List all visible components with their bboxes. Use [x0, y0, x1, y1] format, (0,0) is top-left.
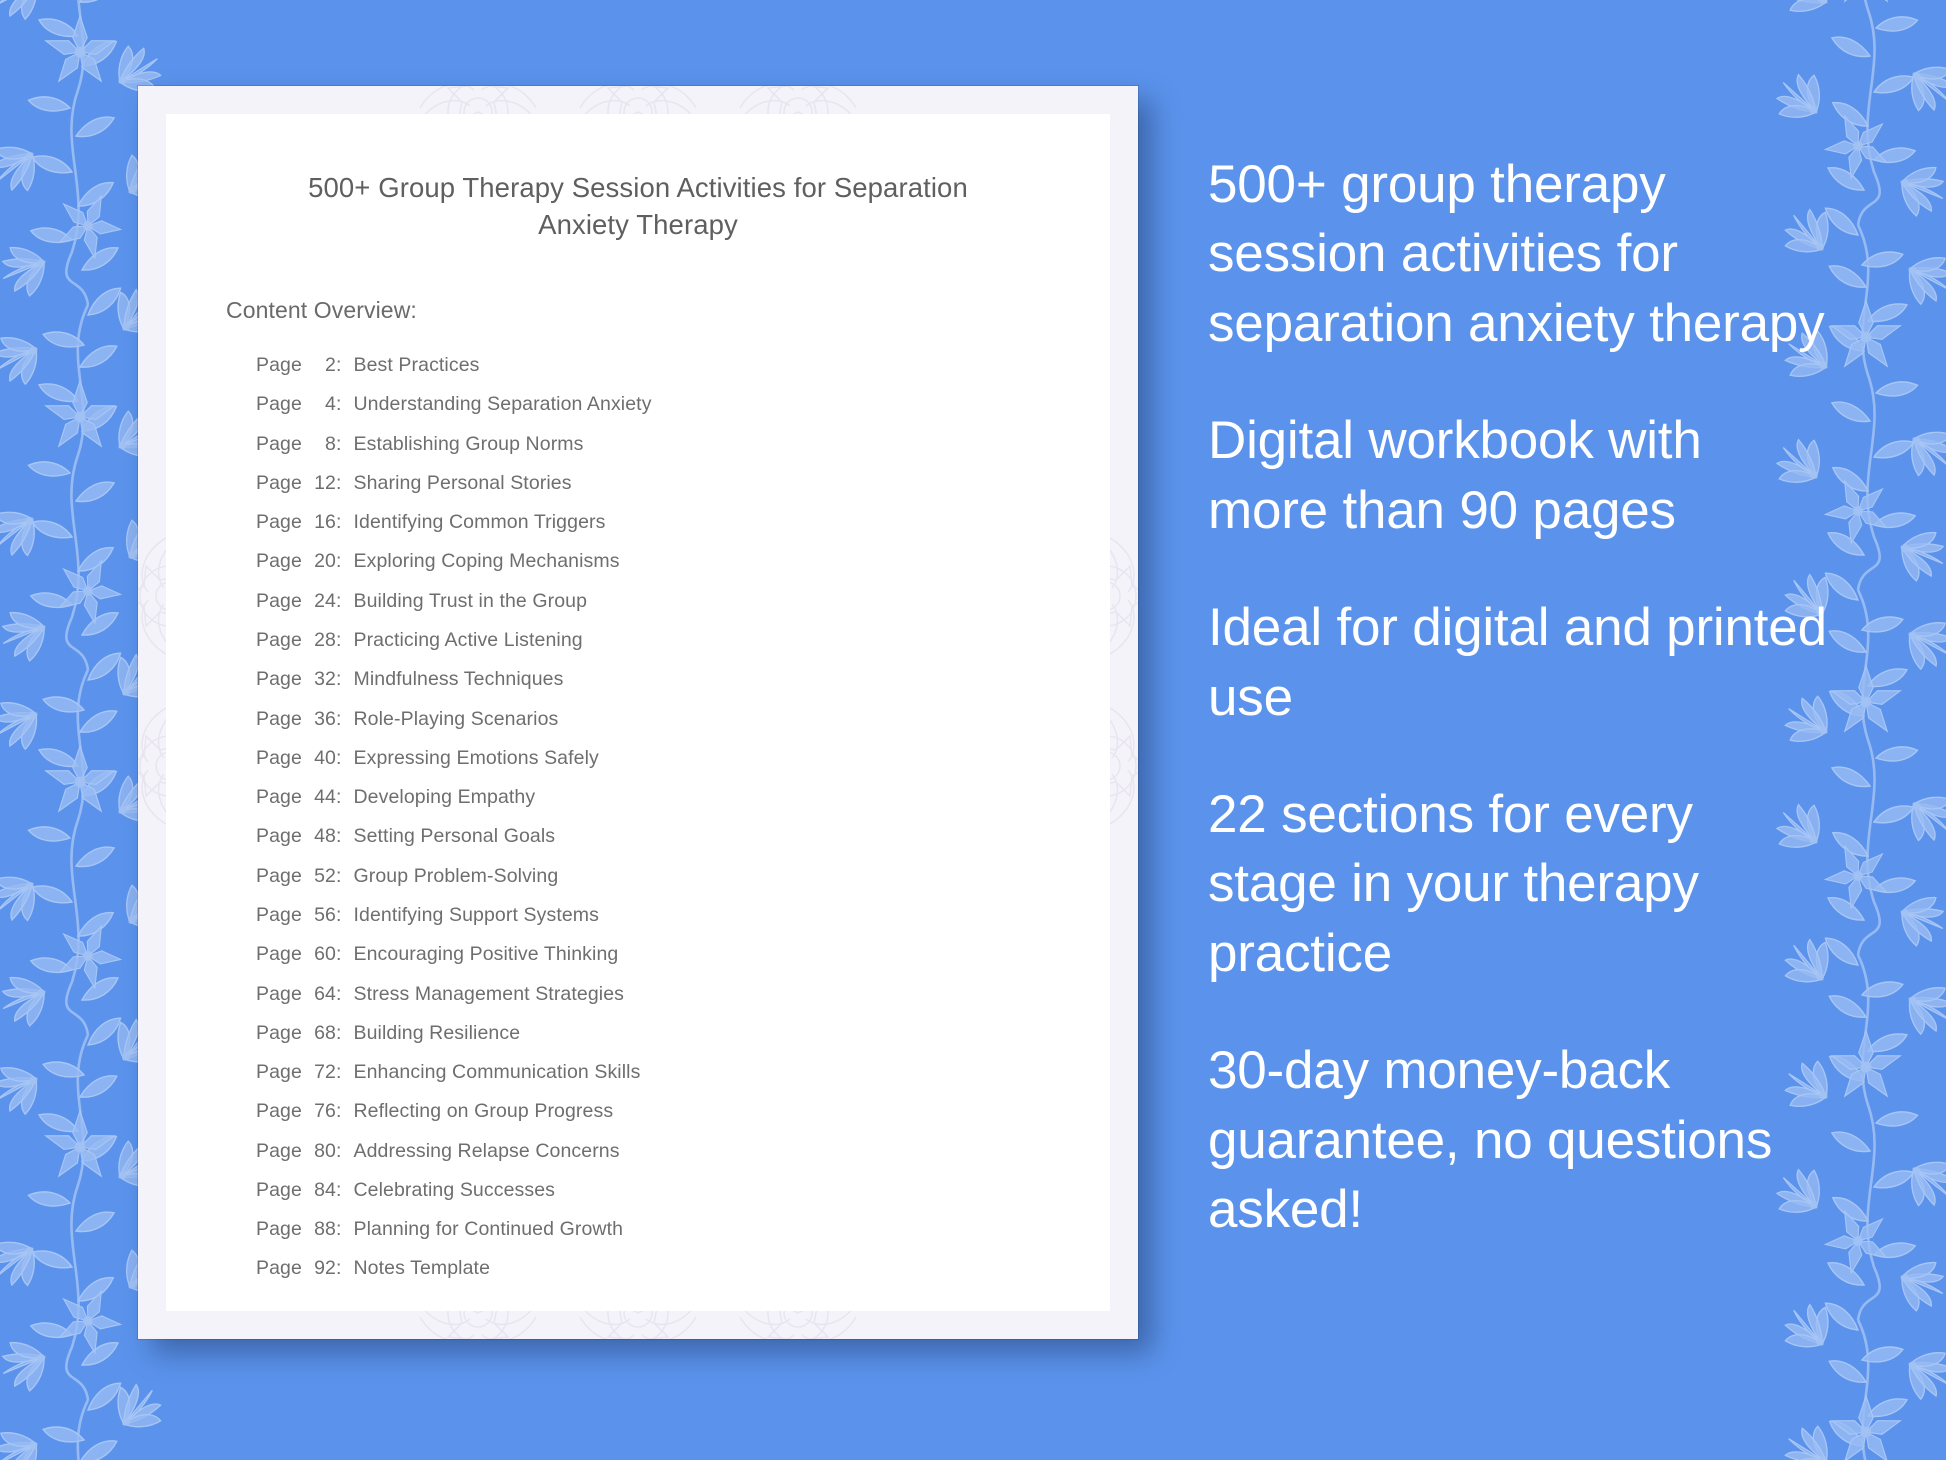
- toc-page-number: 88: [302, 1220, 336, 1240]
- toc-page-word: Page: [256, 670, 302, 690]
- document-page: 500+ Group Therapy Session Activities fo…: [166, 114, 1110, 1311]
- toc-entry-title: Building Trust in the Group: [353, 592, 587, 612]
- toc-entry[interactable]: Page24:Building Trust in the Group: [256, 582, 1110, 621]
- toc-colon: :: [336, 827, 342, 847]
- marketing-bullet: 22 sections for every stage in your ther…: [1208, 780, 1828, 988]
- toc-colon: :: [336, 395, 342, 415]
- toc-entry-title: Stress Management Strategies: [353, 985, 624, 1005]
- toc-entry-title: Role-Playing Scenarios: [353, 710, 558, 730]
- toc-entry[interactable]: Page76:Reflecting on Group Progress: [256, 1092, 1110, 1131]
- toc-entry-title: Identifying Support Systems: [353, 906, 599, 926]
- toc-entry-title: Celebrating Successes: [353, 1181, 555, 1201]
- toc-page-number: 24: [302, 592, 336, 612]
- toc-entry[interactable]: Page2:Best Practices: [256, 346, 1110, 385]
- toc-page-word: Page: [256, 906, 302, 926]
- table-of-contents: Page2:Best PracticesPage4:Understanding …: [256, 346, 1110, 1289]
- toc-page-word: Page: [256, 1259, 302, 1279]
- marketing-bullet: Digital workbook with more than 90 pages: [1208, 406, 1828, 545]
- toc-page-number: 2: [302, 356, 336, 376]
- toc-page-word: Page: [256, 474, 302, 494]
- toc-page-word: Page: [256, 945, 302, 965]
- toc-entry-title: Setting Personal Goals: [353, 827, 555, 847]
- toc-entry[interactable]: Page68:Building Resilience: [256, 1014, 1110, 1053]
- toc-entry[interactable]: Page40:Expressing Emotions Safely: [256, 739, 1110, 778]
- toc-colon: :: [336, 867, 342, 887]
- toc-entry[interactable]: Page64:Stress Management Strategies: [256, 975, 1110, 1014]
- toc-entry[interactable]: Page36:Role-Playing Scenarios: [256, 700, 1110, 739]
- toc-page-number: 12: [302, 474, 336, 494]
- toc-entry[interactable]: Page92:Notes Template: [256, 1250, 1110, 1289]
- toc-page-word: Page: [256, 867, 302, 887]
- toc-entry[interactable]: Page12:Sharing Personal Stories: [256, 464, 1110, 503]
- toc-entry-title: Planning for Continued Growth: [353, 1220, 623, 1240]
- toc-colon: :: [336, 1181, 342, 1201]
- toc-entry-title: Practicing Active Listening: [353, 631, 582, 651]
- toc-colon: :: [336, 435, 342, 455]
- toc-page-word: Page: [256, 1063, 302, 1083]
- toc-colon: :: [336, 710, 342, 730]
- toc-colon: :: [336, 670, 342, 690]
- toc-page-word: Page: [256, 749, 302, 769]
- marketing-bullet: 30-day money-back guarantee, no question…: [1208, 1036, 1828, 1244]
- toc-entry[interactable]: Page32:Mindfulness Techniques: [256, 660, 1110, 699]
- toc-entry-title: Addressing Relapse Concerns: [353, 1142, 619, 1162]
- toc-page-word: Page: [256, 1181, 302, 1201]
- toc-entry-title: Mindfulness Techniques: [353, 670, 563, 690]
- toc-colon: :: [336, 356, 342, 376]
- toc-colon: :: [336, 945, 342, 965]
- toc-colon: :: [336, 1259, 342, 1279]
- toc-page-number: 44: [302, 788, 336, 808]
- toc-entry-title: Exploring Coping Mechanisms: [353, 552, 619, 572]
- toc-entry-title: Encouraging Positive Thinking: [353, 945, 618, 965]
- toc-entry[interactable]: Page80:Addressing Relapse Concerns: [256, 1132, 1110, 1171]
- toc-page-word: Page: [256, 513, 302, 533]
- toc-page-word: Page: [256, 631, 302, 651]
- toc-colon: :: [336, 1102, 342, 1122]
- marketing-bullet: 500+ group therapy session activities fo…: [1208, 150, 1828, 358]
- toc-entry-title: Enhancing Communication Skills: [353, 1063, 640, 1083]
- toc-colon: :: [336, 1142, 342, 1162]
- toc-colon: :: [336, 552, 342, 572]
- toc-entry-title: Group Problem-Solving: [353, 867, 558, 887]
- marketing-panel: 500+ group therapy session activities fo…: [1208, 150, 1828, 1244]
- toc-entry[interactable]: Page52:Group Problem-Solving: [256, 857, 1110, 896]
- toc-entry[interactable]: Page84:Celebrating Successes: [256, 1171, 1110, 1210]
- toc-colon: :: [336, 474, 342, 494]
- toc-page-number: 56: [302, 906, 336, 926]
- toc-page-word: Page: [256, 356, 302, 376]
- toc-page-number: 40: [302, 749, 336, 769]
- toc-entry[interactable]: Page4:Understanding Separation Anxiety: [256, 385, 1110, 424]
- toc-page-number: 60: [302, 945, 336, 965]
- toc-page-number: 48: [302, 827, 336, 847]
- toc-page-word: Page: [256, 985, 302, 1005]
- toc-page-word: Page: [256, 710, 302, 730]
- toc-colon: :: [336, 749, 342, 769]
- toc-page-word: Page: [256, 1142, 302, 1162]
- toc-page-number: 32: [302, 670, 336, 690]
- toc-page-number: 20: [302, 552, 336, 572]
- toc-page-number: 68: [302, 1024, 336, 1044]
- toc-entry-title: Best Practices: [353, 356, 479, 376]
- toc-page-word: Page: [256, 552, 302, 572]
- toc-colon: :: [336, 1063, 342, 1083]
- toc-entry[interactable]: Page88:Planning for Continued Growth: [256, 1210, 1110, 1249]
- toc-entry-title: Building Resilience: [353, 1024, 520, 1044]
- toc-colon: :: [336, 1024, 342, 1044]
- toc-colon: :: [336, 788, 342, 808]
- toc-entry[interactable]: Page48:Setting Personal Goals: [256, 818, 1110, 857]
- toc-entry-title: Establishing Group Norms: [353, 435, 583, 455]
- content-overview-label: Content Overview:: [226, 297, 1110, 324]
- toc-entry[interactable]: Page44:Developing Empathy: [256, 778, 1110, 817]
- toc-page-number: 84: [302, 1181, 336, 1201]
- toc-entry-title: Expressing Emotions Safely: [353, 749, 598, 769]
- toc-page-word: Page: [256, 1220, 302, 1240]
- toc-entry[interactable]: Page60:Encouraging Positive Thinking: [256, 935, 1110, 974]
- toc-page-word: Page: [256, 827, 302, 847]
- toc-entry[interactable]: Page8:Establishing Group Norms: [256, 425, 1110, 464]
- toc-page-word: Page: [256, 1102, 302, 1122]
- toc-page-number: 76: [302, 1102, 336, 1122]
- toc-entry-title: Sharing Personal Stories: [353, 474, 571, 494]
- toc-page-number: 8: [302, 435, 336, 455]
- toc-colon: :: [336, 513, 342, 533]
- toc-page-number: 16: [302, 513, 336, 533]
- toc-entry-title: Identifying Common Triggers: [353, 513, 605, 533]
- toc-page-word: Page: [256, 1024, 302, 1044]
- toc-page-number: 28: [302, 631, 336, 651]
- toc-page-number: 92: [302, 1259, 336, 1279]
- toc-colon: :: [336, 1220, 342, 1240]
- toc-entry[interactable]: Page16:Identifying Common Triggers: [256, 503, 1110, 542]
- toc-colon: :: [336, 631, 342, 651]
- document-card[interactable]: 500+ Group Therapy Session Activities fo…: [138, 86, 1138, 1339]
- toc-page-number: 36: [302, 710, 336, 730]
- toc-colon: :: [336, 906, 342, 926]
- toc-page-number: 72: [302, 1063, 336, 1083]
- toc-entry[interactable]: Page28:Practicing Active Listening: [256, 621, 1110, 660]
- toc-entry[interactable]: Page56:Identifying Support Systems: [256, 896, 1110, 935]
- toc-page-word: Page: [256, 788, 302, 808]
- toc-entry-title: Understanding Separation Anxiety: [353, 395, 651, 415]
- toc-page-number: 80: [302, 1142, 336, 1162]
- toc-colon: :: [336, 592, 342, 612]
- toc-page-number: 52: [302, 867, 336, 887]
- marketing-bullet: Ideal for digital and printed use: [1208, 593, 1828, 732]
- toc-entry-title: Notes Template: [353, 1259, 490, 1279]
- toc-page-word: Page: [256, 592, 302, 612]
- toc-entry-title: Reflecting on Group Progress: [353, 1102, 613, 1122]
- toc-page-word: Page: [256, 395, 302, 415]
- toc-page-word: Page: [256, 435, 302, 455]
- toc-entry[interactable]: Page20:Exploring Coping Mechanisms: [256, 543, 1110, 582]
- toc-page-number: 4: [302, 395, 336, 415]
- toc-entry[interactable]: Page72:Enhancing Communication Skills: [256, 1053, 1110, 1092]
- toc-colon: :: [336, 985, 342, 1005]
- document-title: 500+ Group Therapy Session Activities fo…: [262, 170, 1014, 243]
- toc-entry-title: Developing Empathy: [353, 788, 535, 808]
- toc-page-number: 64: [302, 985, 336, 1005]
